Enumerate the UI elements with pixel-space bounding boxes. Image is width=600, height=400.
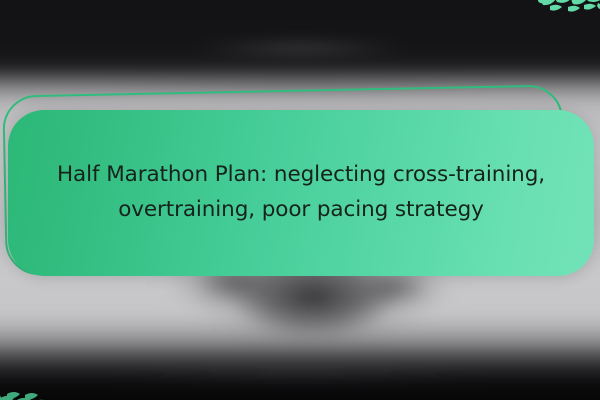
quote-card-text: Half Marathon Plan: neglecting cross-tra… — [54, 158, 548, 228]
quote-card: Half Marathon Plan: neglecting cross-tra… — [8, 110, 594, 276]
screenshot-canvas: Half Marathon Plan: neglecting cross-tra… — [0, 0, 600, 400]
